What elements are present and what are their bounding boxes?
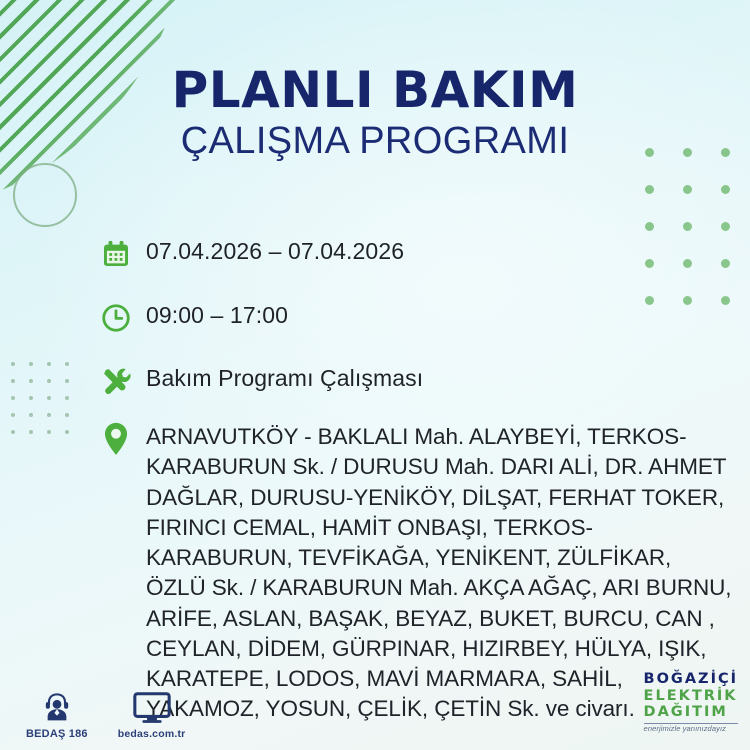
info-list: 07.04.2026 – 07.04.2026 09:00 – 17:00 — [100, 232, 732, 741]
logo-tagline: enerjimizle yanınızdayız — [644, 725, 738, 733]
tools-icon — [100, 359, 146, 401]
location-pin-icon — [100, 417, 146, 459]
footer-web-label: bedas.com.tr — [118, 728, 186, 740]
bedas-logo: BOĞAZİÇİ ELEKTRİK DAĞITIM enerjimizle ya… — [644, 672, 738, 732]
clock-icon — [100, 296, 146, 338]
headset-support-icon — [40, 690, 74, 724]
date-range-text: 07.04.2026 – 07.04.2026 — [146, 232, 404, 267]
monitor-icon — [133, 692, 171, 724]
time-range-text: 09:00 – 17:00 — [146, 296, 288, 331]
logo-line-dagitim: DAĞITIM — [644, 705, 738, 720]
logo-line-elektrik: ELEKTRİK — [644, 689, 738, 704]
page-title: PLANLI BAKIM — [0, 64, 750, 117]
circle-outline-decoration — [13, 163, 77, 227]
footer-website[interactable]: bedas.com.tr — [118, 692, 186, 740]
footer-call-center[interactable]: BEDAŞ 186 — [26, 690, 88, 740]
footer-call-label: BEDAŞ 186 — [26, 728, 88, 740]
poster-header: PLANLI BAKIM ÇALIŞMA PROGRAMI — [0, 64, 750, 162]
page-subtitle: ÇALIŞMA PROGRAMI — [0, 121, 750, 162]
info-row-date: 07.04.2026 – 07.04.2026 — [100, 232, 732, 274]
poster-canvas: PLANLI BAKIM ÇALIŞMA PROGRAMI — [0, 0, 750, 750]
footer-contacts: BEDAŞ 186 bedas.com.tr — [26, 690, 185, 740]
work-type-text: Bakım Programı Çalışması — [146, 359, 423, 394]
info-row-work-type: Bakım Programı Çalışması — [100, 359, 732, 401]
dot-grid-left-decoration — [11, 362, 83, 447]
calendar-icon — [100, 232, 146, 274]
info-row-time: 09:00 – 17:00 — [100, 296, 732, 338]
logo-line-bogazici: BOĞAZİÇİ — [644, 672, 738, 687]
info-row-location: ARNAVUTKÖY - BAKLALI Mah. ALAYBEYİ, TERK… — [100, 417, 732, 725]
